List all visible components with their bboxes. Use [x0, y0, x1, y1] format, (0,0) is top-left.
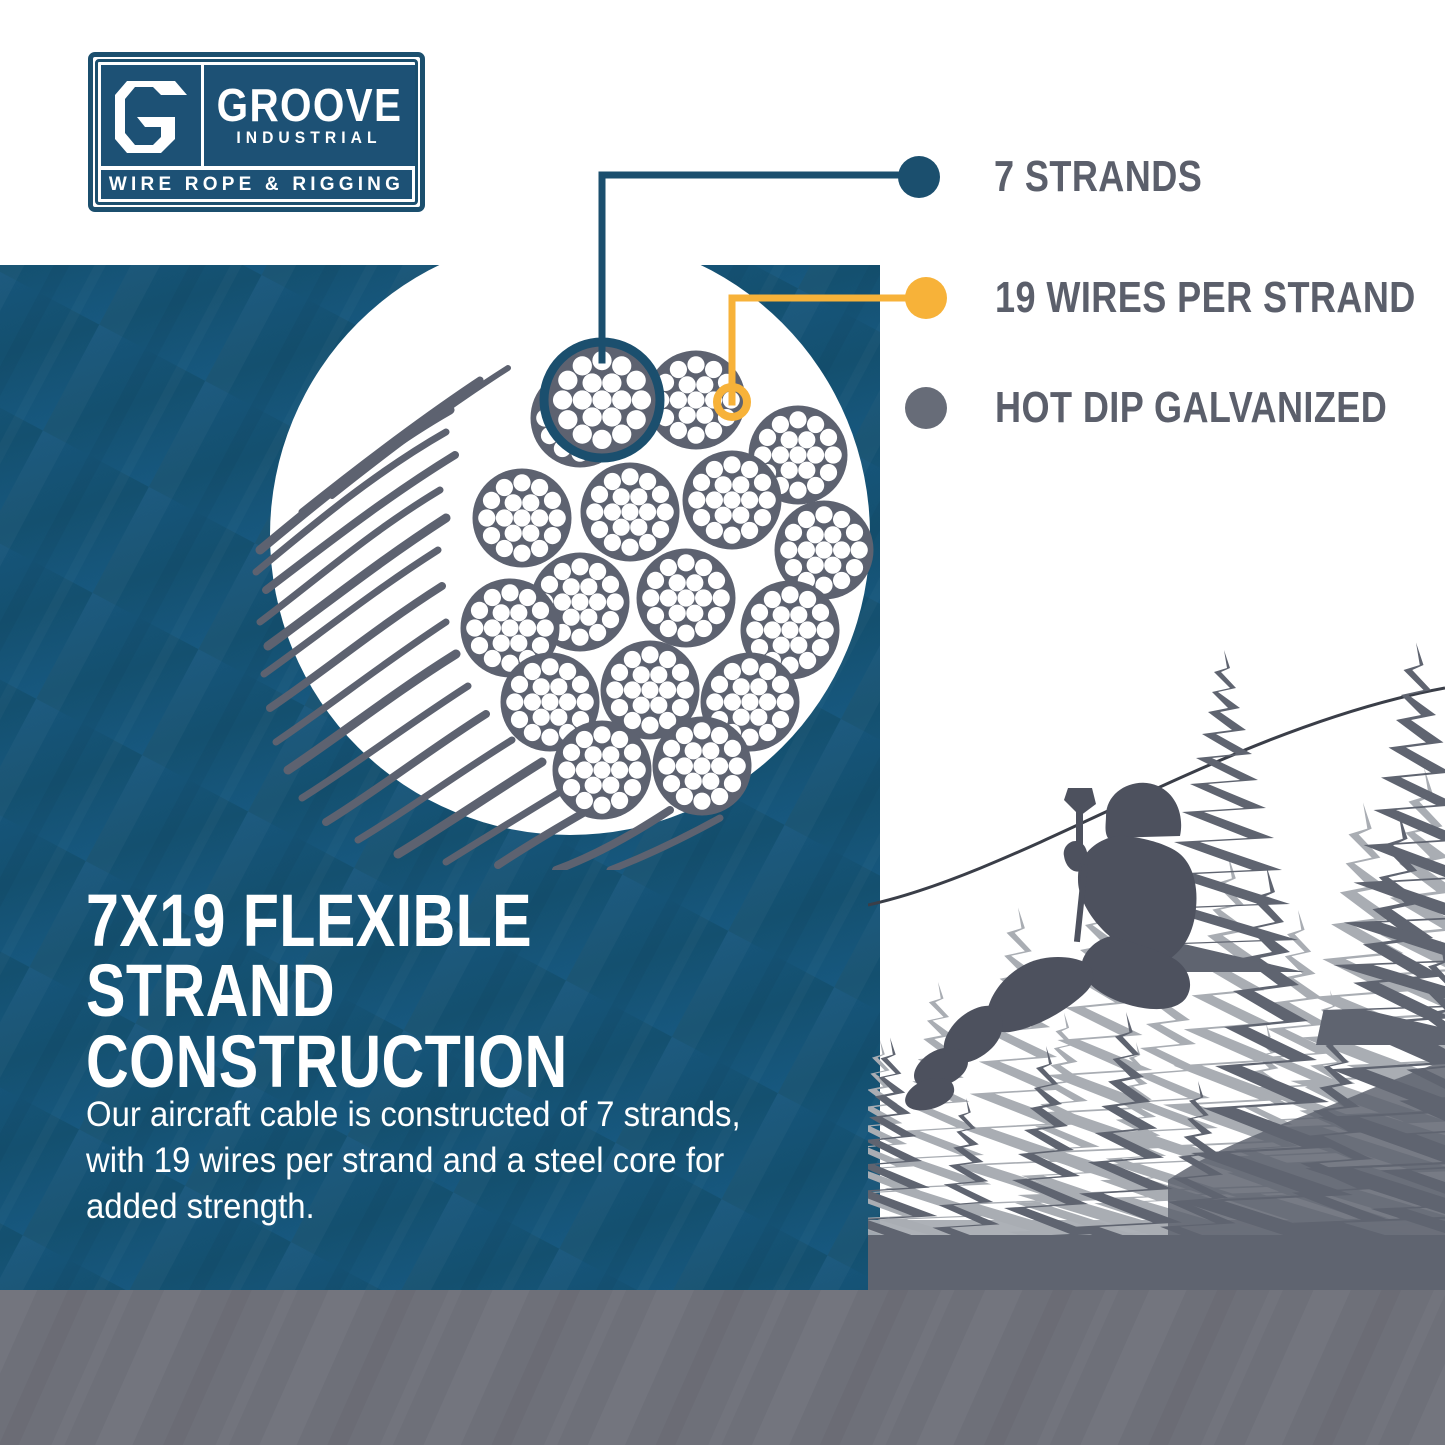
callout-label: 7 STRANDS: [994, 152, 1202, 202]
body-paragraph: Our aircraft cable is constructed of 7 s…: [86, 1092, 744, 1231]
g-hexagon-icon: [101, 65, 201, 169]
rope-strand: [637, 549, 736, 648]
zipline-scene: [868, 620, 1445, 1300]
callout-wires-per-strand[interactable]: 19 WIRES PER STRAND: [905, 273, 1445, 323]
rope-strand: [653, 717, 752, 816]
logo-inner-frame: GROOVE INDUSTRIAL WIRE ROPE & RIGGING: [95, 59, 418, 205]
logo-tagline-bar: WIRE ROPE & RIGGING: [101, 170, 412, 199]
connector-line-wires: [732, 298, 918, 402]
bottom-bar: [0, 1290, 1445, 1445]
rope-strand: [683, 451, 782, 550]
rope-strand: [581, 463, 680, 562]
callout-label: 19 WIRES PER STRAND: [995, 273, 1416, 323]
logo-wordmark: GROOVE: [217, 84, 403, 126]
infographic-canvas: GROOVE INDUSTRIAL WIRE ROPE & RIGGING: [0, 0, 1445, 1445]
callout-hot-dip-galvanized[interactable]: HOT DIP GALVANIZED: [905, 383, 1445, 433]
callout-strands[interactable]: 7 STRANDS: [898, 152, 1248, 202]
brand-logo[interactable]: GROOVE INDUSTRIAL WIRE ROPE & RIGGING: [88, 52, 425, 212]
logo-g-mark: [101, 65, 201, 166]
callout-dot-icon: [898, 156, 940, 198]
callout-label: HOT DIP GALVANIZED: [995, 383, 1387, 433]
logo-tagline: WIRE ROPE & RIGGING: [109, 174, 404, 196]
headline-line-2: STRAND CONSTRUCTION: [86, 956, 694, 1097]
callout-dot-icon: [905, 387, 947, 429]
logo-subword: INDUSTRIAL: [237, 129, 382, 148]
rope-strand: [473, 469, 572, 568]
rope-strand: [553, 721, 652, 820]
logo-name-box: GROOVE INDUSTRIAL: [204, 65, 415, 166]
page-title: 7X19 FLEXIBLE STRAND CONSTRUCTION: [86, 886, 694, 1097]
connector-line-strands: [602, 175, 912, 360]
logo-top-zone: GROOVE INDUSTRIAL: [98, 62, 415, 166]
callout-dot-icon: [905, 277, 947, 319]
